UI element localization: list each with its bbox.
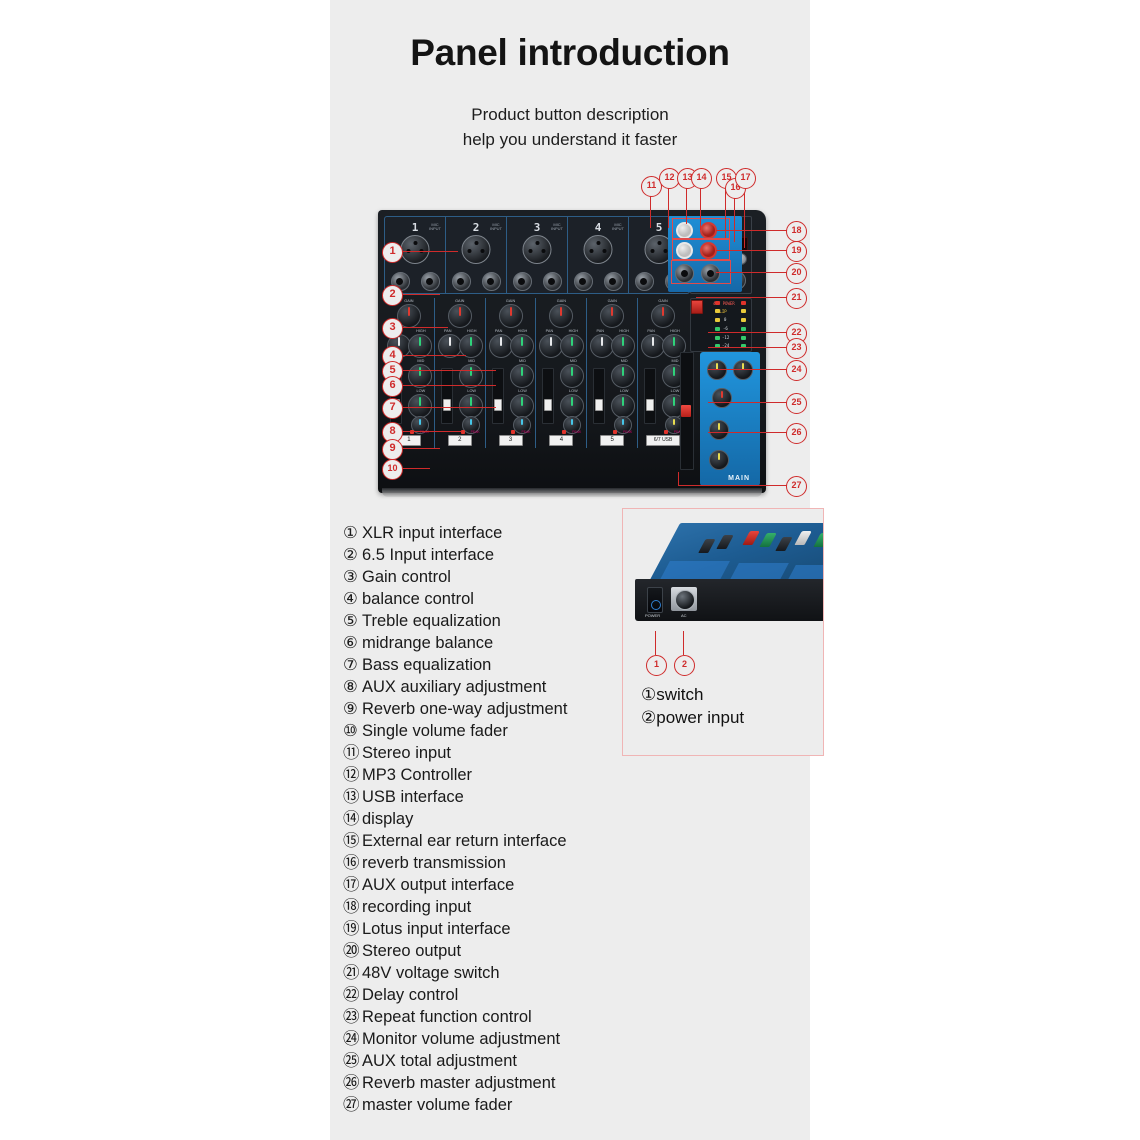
legend-item-label: Gain control	[362, 568, 451, 586]
gain-knob[interactable]	[499, 304, 523, 328]
page-root: Panel introduction Product button descri…	[0, 0, 1140, 1140]
callout-19[interactable]: 19	[786, 241, 807, 262]
legend-item-number: ⑨	[343, 698, 362, 720]
peak-led	[562, 430, 566, 434]
inset-callout-1[interactable]: 1	[646, 655, 667, 676]
monitor-volume-knob[interactable]	[712, 388, 732, 408]
legend-item-number: ⑰	[343, 874, 362, 896]
legend-item-label: Stereo output	[362, 942, 461, 960]
high-knob-label: HIGH	[670, 329, 680, 333]
callout-20[interactable]: 20	[786, 263, 807, 284]
low-knob-label: LOW	[569, 389, 578, 393]
callout-line-20	[716, 272, 788, 273]
legend-item-number: ㉒	[343, 984, 362, 1006]
inset-callout-line-2	[683, 631, 684, 655]
legend-item: ⑳Stereo output	[343, 940, 633, 962]
legend-item-number: ⑯	[343, 852, 362, 874]
subtitle-line-1: Product button description	[330, 102, 810, 127]
legend-item-label: External ear return interface	[362, 832, 567, 850]
gain-knob-label: GAIN	[404, 299, 413, 303]
legend-item-number: ⑫	[343, 764, 362, 786]
callout-line-22	[708, 332, 788, 333]
callout-27[interactable]: 27	[786, 476, 807, 497]
callout-line-1	[400, 251, 458, 252]
callout-line-24	[708, 369, 788, 370]
gain-knob-label: GAIN	[658, 299, 667, 303]
legend-item: ㉕AUX total adjustment	[343, 1050, 633, 1072]
callout-line-16	[734, 194, 735, 242]
page-subtitle: Product button description help you unde…	[330, 102, 810, 152]
channel-strip-label: 2	[448, 435, 472, 446]
legend-item-number: ⑧	[343, 676, 362, 698]
channel-number: 3	[534, 221, 541, 234]
knob-top	[794, 531, 811, 545]
mid-knob-label: MID	[519, 359, 526, 363]
treble-eq-knob[interactable]	[560, 334, 584, 358]
jack-row	[507, 272, 567, 291]
peak-label: PEAK	[471, 430, 480, 434]
low-knob-label: LOW	[671, 389, 680, 393]
legend-item: ⑨Reverb one-way adjustment	[343, 698, 633, 720]
callout-9[interactable]: 9	[382, 439, 403, 460]
line-jack[interactable]	[635, 272, 654, 291]
callout-line-23	[708, 347, 788, 348]
legend-item-label: reverb transmission	[362, 854, 506, 872]
legend-item-label: Single volume fader	[362, 722, 508, 740]
callout-line-18	[716, 230, 788, 231]
ins-jack[interactable]	[421, 272, 440, 291]
mixer-body: 1 MICINPUT 2 MICINPUT	[378, 210, 766, 493]
mic-input-label: MICINPUT	[551, 223, 563, 231]
legend-item-label: USB interface	[362, 788, 464, 806]
mic-input-label: MICINPUT	[612, 223, 624, 231]
callout-14[interactable]: 14	[691, 168, 712, 189]
meter-scale-12: -12	[722, 335, 729, 340]
input-channel: 4 MICINPUT	[568, 217, 629, 293]
legend-item-label: recording input	[362, 898, 471, 916]
ac-label: AC	[681, 613, 687, 618]
inset-label-power-input: ②power input	[641, 706, 744, 729]
gain-knob-label: GAIN	[455, 299, 464, 303]
legend-item: ⑩Single volume fader	[343, 720, 633, 742]
legend-item-label: 6.5 Input interface	[362, 546, 494, 564]
callout-line-6	[400, 385, 496, 386]
mid-knob-label: MID	[621, 359, 628, 363]
legend-item-number: ⑬	[343, 786, 362, 808]
legend-item: ③Gain control	[343, 566, 633, 588]
callout-line-4	[400, 355, 466, 356]
pan-knob-label: PAN	[647, 329, 655, 333]
callout-line-9	[400, 448, 440, 449]
jack-row	[568, 272, 628, 291]
pcb-trace	[660, 561, 730, 579]
legend-item-number: ⑩	[343, 720, 362, 742]
legend-item-number: ⑤	[343, 610, 362, 632]
ins-jack[interactable]	[604, 272, 623, 291]
legend-item-label: 48V voltage switch	[362, 964, 500, 982]
low-knob-label: LOW	[467, 389, 476, 393]
peak-label: PEAK	[623, 430, 632, 434]
legend-item: ㉓Repeat function control	[343, 1006, 633, 1028]
channel-volume-fader[interactable]	[542, 368, 554, 424]
channel-number: 5	[656, 221, 663, 234]
product-photo: 1 MICINPUT 2 MICINPUT	[378, 172, 766, 502]
legend-item: ⑯reverb transmission	[343, 852, 633, 874]
legend-item: ⑦Bass equalization	[343, 654, 633, 676]
power-switch[interactable]	[647, 587, 663, 613]
legend-list: ①XLR input interface ②6.5 Input interfac…	[343, 522, 633, 1116]
callout-21[interactable]: 21	[786, 288, 807, 309]
callout-24[interactable]: 24	[786, 360, 807, 381]
bass-eq-knob[interactable]	[560, 394, 584, 418]
pan-knob-label: PAN	[495, 329, 503, 333]
legend-item: ㉑48V voltage switch	[343, 962, 633, 984]
legend-item: ㉖Reverb master adjustment	[343, 1072, 633, 1094]
knob-top	[775, 537, 792, 551]
reverb-master-knob[interactable]	[709, 450, 729, 470]
treble-eq-knob[interactable]	[611, 334, 635, 358]
line-jack[interactable]	[452, 272, 471, 291]
inset-label-text: power input	[656, 708, 744, 727]
legend-item-label: Reverb master adjustment	[362, 1074, 556, 1092]
channel-number: 1	[412, 221, 419, 234]
low-knob-label: LOW	[417, 389, 426, 393]
callout-line-17	[744, 186, 745, 248]
callout-line-8	[400, 431, 462, 432]
pan-knob-label: PAN	[444, 329, 452, 333]
treble-eq-knob[interactable]	[510, 334, 534, 358]
bass-eq-knob[interactable]	[459, 394, 483, 418]
input-channel: 3 MICINPUT	[507, 217, 568, 293]
inset-callout-line-1	[655, 631, 656, 655]
meter-scale-6: -6	[723, 326, 728, 331]
midrange-eq-knob[interactable]	[611, 364, 635, 388]
master-volume-fader[interactable]	[680, 352, 694, 470]
xlr-connector[interactable]	[584, 235, 613, 264]
channel-volume-fader[interactable]	[441, 368, 453, 424]
pcb-trace	[730, 563, 789, 579]
legend-item-number: ②	[343, 544, 362, 566]
master-section: MAIN	[700, 352, 760, 486]
callout-line-26	[708, 432, 788, 433]
channel-strip-label: 3	[499, 435, 523, 446]
legend-item: ⑤Treble equalization	[343, 610, 633, 632]
peak-led	[613, 430, 617, 434]
ins-jack[interactable]	[543, 272, 562, 291]
low-knob-label: LOW	[518, 389, 527, 393]
legend-item-number: ㉔	[343, 1028, 362, 1050]
inset-label-number: ①	[641, 685, 656, 704]
input-row: 1 MICINPUT 2 MICINPUT	[384, 216, 690, 294]
legend-item-label: Bass equalization	[362, 656, 491, 674]
channel-volume-fader[interactable]	[644, 368, 656, 424]
legend-item-label: Delay control	[362, 986, 458, 1004]
line-jack[interactable]	[574, 272, 593, 291]
callout-17[interactable]: 17	[735, 168, 756, 189]
legend-item-label: Stereo input	[362, 744, 451, 762]
legend-item-label: balance control	[362, 590, 474, 608]
legend-item-label: Lotus input interface	[362, 920, 511, 938]
legend-item: ①XLR input interface	[343, 522, 633, 544]
channel-number: 4	[595, 221, 602, 234]
bass-eq-knob[interactable]	[408, 394, 432, 418]
legend-item-number: ⑲	[343, 918, 362, 940]
callout-line-12	[668, 186, 669, 228]
xlr-connector[interactable]	[523, 235, 552, 264]
callout-2[interactable]: 2	[382, 285, 403, 306]
phantom-switch-top	[742, 531, 759, 545]
legend-item: ⑬USB interface	[343, 786, 633, 808]
inset-callout-2[interactable]: 2	[674, 655, 695, 676]
gain-knob[interactable]	[448, 304, 472, 328]
callout-25[interactable]: 25	[786, 393, 807, 414]
legend-item: ⑱recording input	[343, 896, 633, 918]
legend-item: ㉗master volume fader	[343, 1094, 633, 1116]
ins-jack[interactable]	[482, 272, 501, 291]
midrange-eq-knob[interactable]	[510, 364, 534, 388]
callout-line-25	[708, 402, 788, 403]
high-knob-label: HIGH	[467, 329, 477, 333]
gain-knob[interactable]	[549, 304, 573, 328]
callout-line-27-riser	[678, 472, 679, 486]
power-label: POWER	[645, 613, 660, 618]
legend-item: ⑰AUX output interface	[343, 874, 633, 896]
rear-connector-panel	[668, 216, 742, 292]
legend-item-number: ㉓	[343, 1006, 362, 1028]
callout-26[interactable]: 26	[786, 423, 807, 444]
pan-knob-label: PAN	[546, 329, 554, 333]
legend-item: ㉔Monitor volume adjustment	[343, 1028, 633, 1050]
callout-18[interactable]: 18	[786, 221, 807, 242]
bass-eq-knob[interactable]	[510, 394, 534, 418]
channel-strip-row: GAIN PAN HIGH MID LOW PEAK	[384, 298, 688, 448]
peak-label: PEAK	[521, 430, 530, 434]
gain-knob[interactable]	[600, 304, 624, 328]
legend-item-label: MP3 Controller	[362, 766, 472, 784]
channel-strip-label: 5	[600, 435, 624, 446]
side-view-inset: POWER AC 1 2 ①switch ②power input	[622, 508, 824, 756]
channel-strip-label: 4	[549, 435, 573, 446]
xlr-connector[interactable]	[462, 235, 491, 264]
xlr-connector[interactable]	[401, 235, 430, 264]
legend-item-number: ③	[343, 566, 362, 588]
mixer-base-shadow	[382, 488, 762, 497]
legend-item-label: master volume fader	[362, 1096, 512, 1114]
knob-top	[759, 533, 776, 547]
legend-item-label: AUX auxiliary adjustment	[362, 678, 546, 696]
callout-line-13	[686, 186, 687, 224]
callout-line-11	[650, 194, 651, 228]
knob-top	[813, 533, 824, 547]
high-knob-label: HIGH	[518, 329, 528, 333]
legend-item-number: ⑳	[343, 940, 362, 962]
mic-input-label: MICINPUT	[490, 223, 502, 231]
phantom-power-switch[interactable]	[691, 300, 703, 314]
legend-item-number: ①	[343, 522, 362, 544]
jack-row	[446, 272, 506, 291]
gain-knob-label: GAIN	[608, 299, 617, 303]
page-title: Panel introduction	[330, 32, 810, 74]
mixer-side-face: POWER AC	[635, 579, 824, 621]
knob-top	[716, 535, 733, 549]
power-input-connector[interactable]	[671, 587, 697, 611]
legend-item-label: display	[362, 810, 413, 828]
legend-item: ㉒Delay control	[343, 984, 633, 1006]
high-knob-label: HIGH	[416, 329, 426, 333]
mid-knob-label: MID	[672, 359, 679, 363]
legend-item-number: ⑪	[343, 742, 362, 764]
inset-label-switch: ①switch	[641, 683, 703, 706]
callout-line-7	[400, 407, 496, 408]
legend-item-label: Monitor volume adjustment	[362, 1030, 560, 1048]
gain-knob[interactable]	[651, 304, 675, 328]
legend-item-number: ⑥	[343, 632, 362, 654]
peak-label: PEAK	[572, 430, 581, 434]
side-view-photo: POWER AC	[635, 523, 824, 641]
peak-led	[511, 430, 515, 434]
legend-item: ⑭display	[343, 808, 633, 830]
inset-label-number: ②	[641, 708, 656, 727]
legend-item-number: ㉗	[343, 1094, 362, 1116]
legend-item-number: ⑮	[343, 830, 362, 852]
legend-item: ⑥midrange balance	[343, 632, 633, 654]
channel-strip: GAIN PAN HIGH MID LOW PEAK	[536, 298, 587, 448]
mid-knob-label: MID	[417, 359, 424, 363]
legend-item: ④balance control	[343, 588, 633, 610]
channel-volume-fader[interactable]	[492, 368, 504, 424]
legend-item-number: ⑱	[343, 896, 362, 918]
callout-7[interactable]: 7	[382, 398, 403, 419]
high-knob-label: HIGH	[569, 329, 579, 333]
callout-line-3	[400, 327, 448, 328]
gain-knob-label: GAIN	[557, 299, 566, 303]
callout-line-10	[400, 468, 430, 469]
knob-top	[698, 539, 715, 553]
callout-10[interactable]: 10	[382, 459, 403, 480]
callout-23[interactable]: 23	[786, 338, 807, 359]
channel-number: 2	[473, 221, 480, 234]
legend-item-label: XLR input interface	[362, 524, 502, 542]
callout-6[interactable]: 6	[382, 376, 403, 397]
pan-knob-label: PAN	[597, 329, 605, 333]
legend-item-number: ㉕	[343, 1050, 362, 1072]
callout-line-19	[716, 250, 788, 251]
meter-scale-0: 0	[724, 317, 726, 322]
mid-knob-label: MID	[570, 359, 577, 363]
legend-item: ⑲Lotus input interface	[343, 918, 633, 940]
legend-item-number: ⑭	[343, 808, 362, 830]
main-label: MAIN	[728, 475, 750, 482]
legend-item: ⑪Stereo input	[343, 742, 633, 764]
legend-item-label: Repeat function control	[362, 1008, 532, 1026]
channel-strip: GAIN PAN HIGH MID LOW PEAK	[486, 298, 537, 448]
callout-3[interactable]: 3	[382, 318, 403, 339]
subtitle-line-2: help you understand it faster	[330, 127, 810, 152]
callout-line-21	[696, 297, 788, 298]
callout-line-2	[400, 294, 440, 295]
legend-item-label: Treble equalization	[362, 612, 501, 630]
callout-line-5	[400, 370, 496, 371]
callout-line-27	[678, 485, 788, 486]
lotus-input-highlight	[672, 238, 730, 260]
legend-item: ②6.5 Input interface	[343, 544, 633, 566]
line-jack[interactable]	[513, 272, 532, 291]
aux-master-knob[interactable]	[709, 420, 729, 440]
legend-item: ⑮External ear return interface	[343, 830, 633, 852]
legend-item-label: Reverb one-way adjustment	[362, 700, 567, 718]
midrange-eq-knob[interactable]	[560, 364, 584, 388]
channel-strip-label: 6/7 USB	[646, 435, 680, 446]
mic-input-label: MICINPUT	[429, 223, 441, 231]
content-column: Panel introduction Product button descri…	[330, 0, 810, 1140]
legend-item-label: midrange balance	[362, 634, 493, 652]
legend-item-label: AUX output interface	[362, 876, 514, 894]
high-knob-label: HIGH	[619, 329, 629, 333]
legend-item-number: ㉑	[343, 962, 362, 984]
legend-item: ⑫MP3 Controller	[343, 764, 633, 786]
peak-led	[664, 430, 668, 434]
channel-strip: GAIN PAN HIGH MID LOW PEAK	[587, 298, 638, 448]
input-channel: 2 MICINPUT	[446, 217, 507, 293]
bass-eq-knob[interactable]	[611, 394, 635, 418]
legend-item: ⑧AUX auxiliary adjustment	[343, 676, 633, 698]
callout-line-14	[700, 186, 701, 230]
legend-item-number: ④	[343, 588, 362, 610]
low-knob-label: LOW	[620, 389, 629, 393]
mid-knob-label: MID	[468, 359, 475, 363]
gain-knob-label: GAIN	[506, 299, 515, 303]
channel-volume-fader[interactable]	[593, 368, 605, 424]
legend-item-number: ㉖	[343, 1072, 362, 1094]
pcb-trace	[788, 565, 824, 579]
legend-item-label: AUX total adjustment	[362, 1052, 517, 1070]
inset-label-text: switch	[656, 685, 703, 704]
legend-item-number: ⑦	[343, 654, 362, 676]
channel-strip: GAIN PAN HIGH MID LOW PEAK	[435, 298, 486, 448]
callout-1[interactable]: 1	[382, 242, 403, 263]
